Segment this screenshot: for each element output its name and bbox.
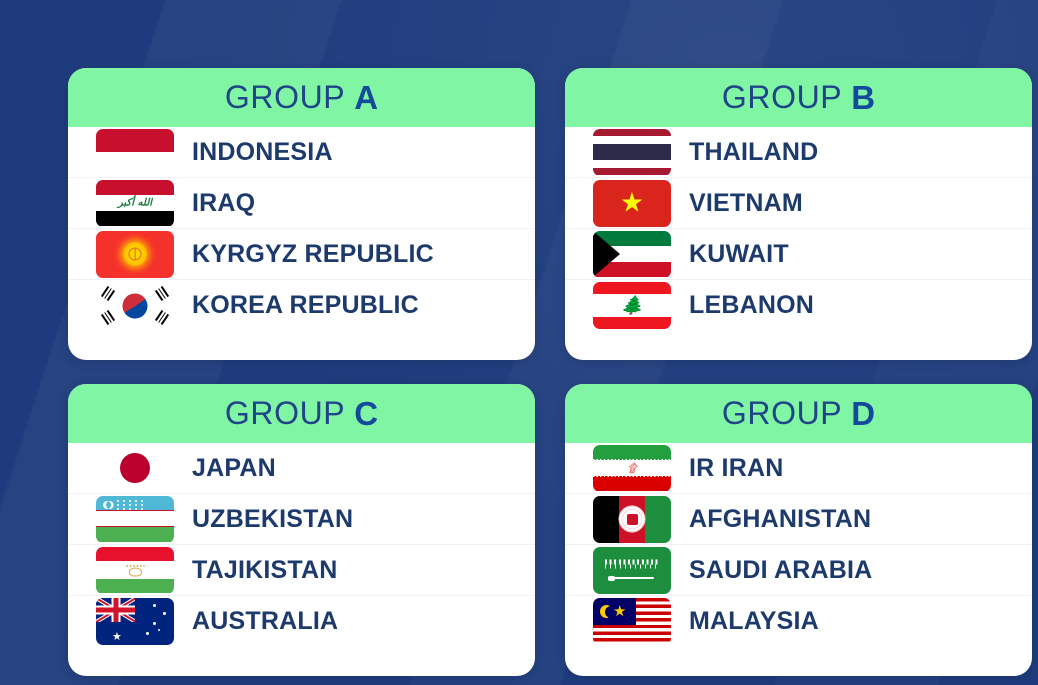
group-card-a: GROUPA INDONESIA الله أكبر IRAQ (68, 68, 535, 360)
group-letter: A (354, 79, 378, 117)
flag-australia-icon: ★ (96, 598, 174, 645)
flag-japan-icon (96, 445, 174, 492)
team-row[interactable]: UZBEKISTAN (68, 494, 535, 545)
team-list-d: ۩ IR IRAN AFGHANISTAN SAUDI ARABIA (565, 443, 1032, 676)
team-row[interactable]: AFGHANISTAN (565, 494, 1032, 545)
team-row[interactable]: KOREA REPUBLIC (68, 280, 535, 331)
flag-kuwait-icon (593, 231, 671, 278)
flag-vietnam-icon: ★ (593, 180, 671, 227)
team-row[interactable]: JAPAN (68, 443, 535, 494)
flag-malaysia-icon: ★ (593, 598, 671, 645)
team-row[interactable]: THAILAND (565, 127, 1032, 178)
team-name: SAUDI ARABIA (689, 556, 872, 585)
team-name: IR IRAN (689, 454, 783, 483)
team-name: IRAQ (192, 189, 255, 218)
flag-saudi-arabia-icon (593, 547, 671, 594)
team-name: TAJIKISTAN (192, 556, 338, 585)
team-name: UZBEKISTAN (192, 505, 353, 534)
flag-iraq-icon: الله أكبر (96, 180, 174, 227)
team-row[interactable]: الله أكبر IRAQ (68, 178, 535, 229)
team-name: AFGHANISTAN (689, 505, 871, 534)
team-name: KYRGYZ REPUBLIC (192, 240, 434, 269)
team-row[interactable]: INDONESIA (68, 127, 535, 178)
team-row[interactable]: KYRGYZ REPUBLIC (68, 229, 535, 280)
group-header-d: GROUPD (565, 384, 1032, 443)
team-name: KOREA REPUBLIC (192, 291, 419, 320)
group-letter: B (851, 79, 875, 117)
team-row[interactable]: ★ VIETNAM (565, 178, 1032, 229)
team-list-b: THAILAND ★ VIETNAM KUWAIT 🌲 LEBANO (565, 127, 1032, 360)
team-row[interactable]: 🌲 LEBANON (565, 280, 1032, 331)
team-name: LEBANON (689, 291, 814, 320)
flag-ir-iran-icon: ۩ (593, 445, 671, 492)
team-row[interactable]: ★ MALAYSIA (565, 596, 1032, 647)
flag-korea-republic-icon (96, 282, 174, 329)
group-header-a: GROUPA (68, 68, 535, 127)
team-list-c: JAPAN UZBEKISTAN TAJIKISTAN (68, 443, 535, 676)
group-draw-board: GROUPA INDONESIA الله أكبر IRAQ (0, 0, 1038, 685)
group-header-c: GROUPC (68, 384, 535, 443)
flag-kyrgyz-republic-icon (96, 231, 174, 278)
group-card-d: GROUPD ۩ IR IRAN AFGHANISTAN (565, 384, 1032, 676)
group-title: GROUP (722, 79, 842, 116)
group-letter: D (851, 395, 875, 433)
flag-tajikistan-icon (96, 547, 174, 594)
flag-lebanon-icon: 🌲 (593, 282, 671, 329)
team-name: MALAYSIA (689, 607, 819, 636)
flag-afghanistan-icon (593, 496, 671, 543)
flag-indonesia-icon (96, 129, 174, 176)
group-card-c: GROUPC JAPAN UZBEKISTAN (68, 384, 535, 676)
group-header-b: GROUPB (565, 68, 1032, 127)
team-row[interactable]: SAUDI ARABIA (565, 545, 1032, 596)
team-list-a: INDONESIA الله أكبر IRAQ KYRGYZ REPUBLIC (68, 127, 535, 360)
team-name: VIETNAM (689, 189, 803, 218)
group-card-b: GROUPB THAILAND ★ VIETNAM KUWAIT (565, 68, 1032, 360)
team-row[interactable]: ۩ IR IRAN (565, 443, 1032, 494)
team-name: INDONESIA (192, 138, 333, 167)
team-name: JAPAN (192, 454, 276, 483)
team-row[interactable]: KUWAIT (565, 229, 1032, 280)
team-name: AUSTRALIA (192, 607, 338, 636)
team-name: KUWAIT (689, 240, 789, 269)
group-letter: C (354, 395, 378, 433)
group-title: GROUP (225, 79, 345, 116)
group-title: GROUP (225, 395, 345, 432)
flag-uzbekistan-icon (96, 496, 174, 543)
team-row[interactable]: ★ AUSTRALIA (68, 596, 535, 647)
flag-thailand-icon (593, 129, 671, 176)
team-name: THAILAND (689, 138, 818, 167)
group-title: GROUP (722, 395, 842, 432)
team-row[interactable]: TAJIKISTAN (68, 545, 535, 596)
